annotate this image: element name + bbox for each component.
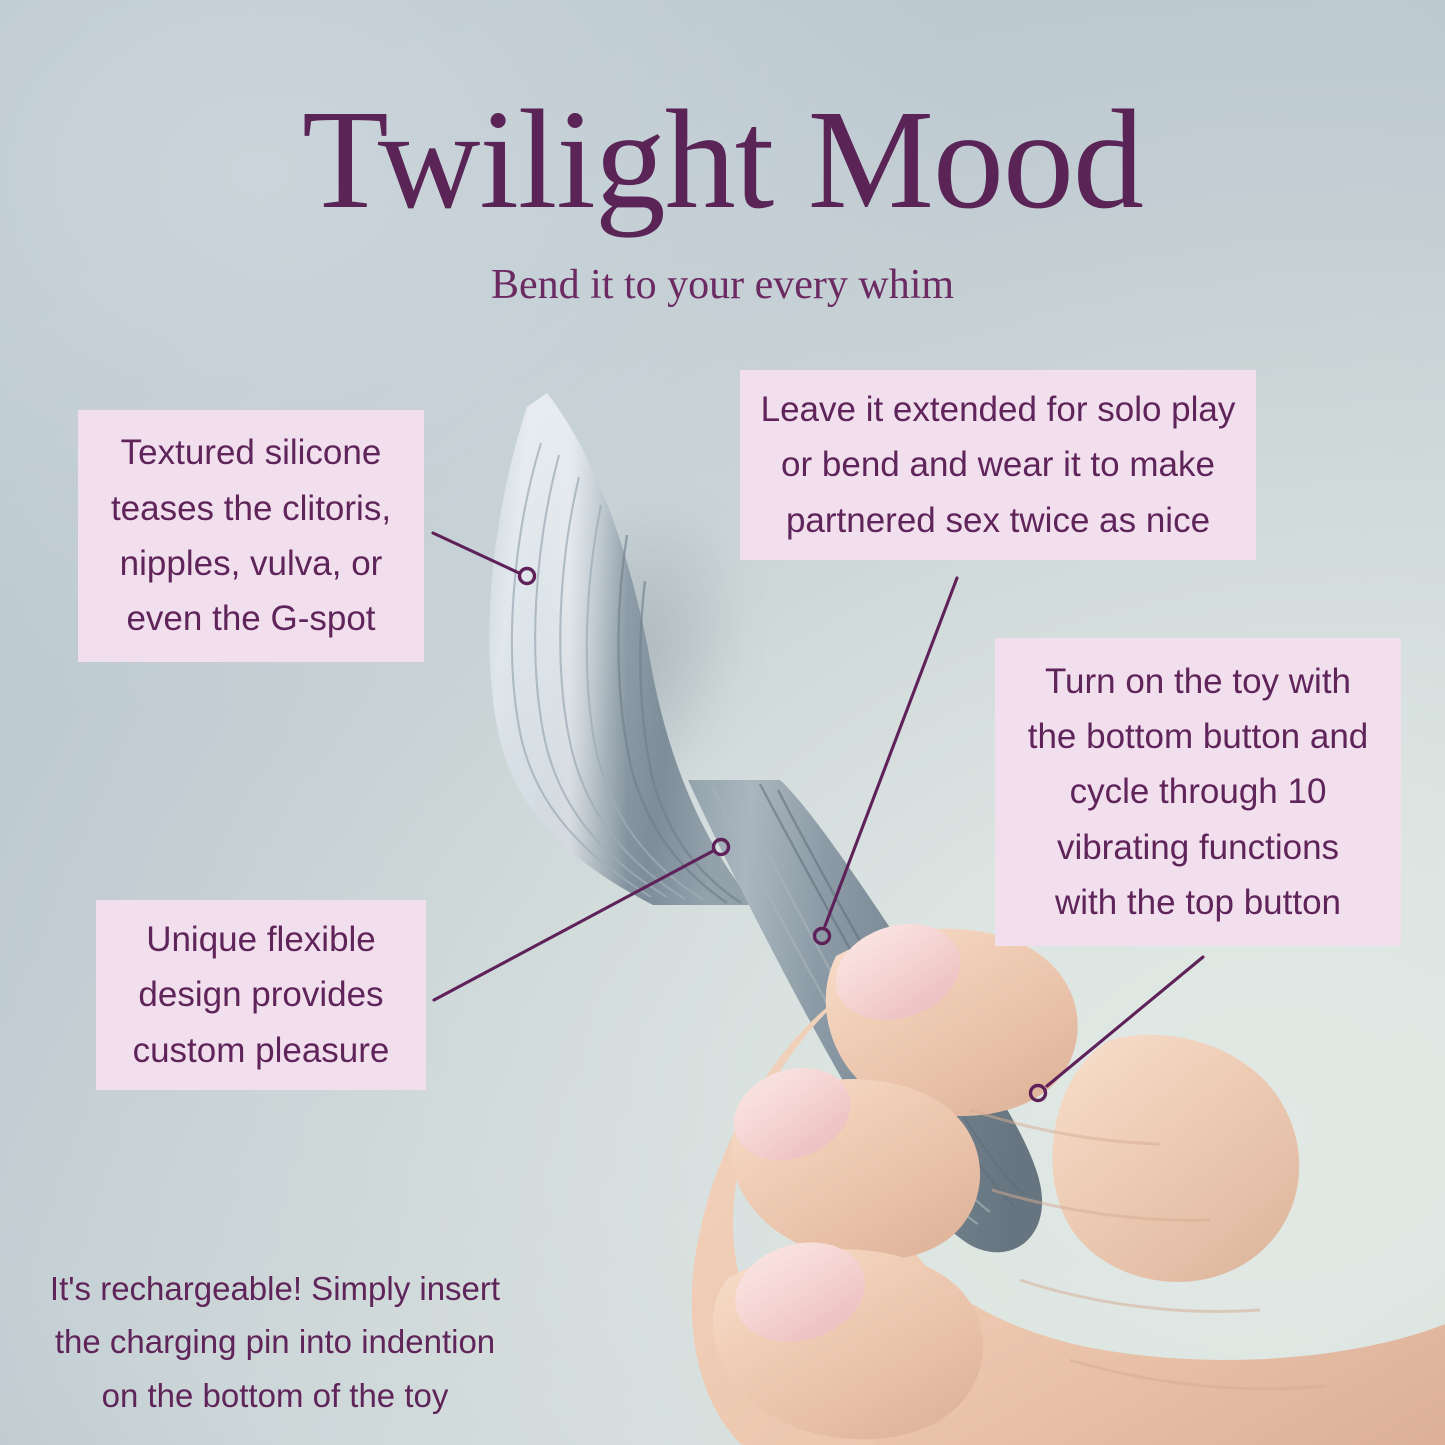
callout-line: or bend and wear it to make — [761, 437, 1236, 492]
callout-line: even the G-spot — [111, 591, 391, 646]
footnote-line: the charging pin into indention — [40, 1315, 510, 1368]
turn-on-the-toy-callout: Turn on the toy with the bottom button a… — [995, 638, 1401, 946]
hand-holding-product — [640, 860, 1445, 1445]
leave-it-extended-callout: Leave it extended for solo play or bend … — [740, 370, 1256, 560]
callout-line: Turn on the toy with — [1028, 654, 1369, 709]
footnote-line: on the bottom of the toy — [40, 1369, 510, 1422]
callout-line: Unique flexible — [133, 912, 390, 967]
callout-line: partnered sex twice as nice — [761, 493, 1236, 548]
footnote-line: It's rechargeable! Simply insert — [40, 1262, 510, 1315]
callout-line: design provides — [133, 967, 390, 1022]
unique-flexible-design-callout: Unique flexible design provides custom p… — [96, 900, 426, 1090]
callout-line: vibrating functions — [1028, 820, 1369, 875]
callout-line: the bottom button and — [1028, 709, 1369, 764]
page-title: Twilight Mood — [0, 88, 1445, 230]
callout-line: Leave it extended for solo play — [761, 382, 1236, 437]
callout-line: teases the clitoris, — [111, 481, 391, 536]
callout-line: custom pleasure — [133, 1023, 390, 1078]
callout-line: nipples, vulva, or — [111, 536, 391, 591]
callout-line: Textured silicone — [111, 425, 391, 480]
callout-line: with the top button — [1028, 875, 1369, 930]
textured-silicone-callout: Textured silicone teases the clitoris, n… — [78, 410, 424, 662]
callout-line: cycle through 10 — [1028, 764, 1369, 819]
rechargeable-note: It's rechargeable! Simply insert the cha… — [40, 1262, 510, 1422]
product-infographic: Twilight Mood Bend it to your every whim… — [0, 0, 1445, 1445]
page-subtitle: Bend it to your every whim — [0, 262, 1445, 308]
